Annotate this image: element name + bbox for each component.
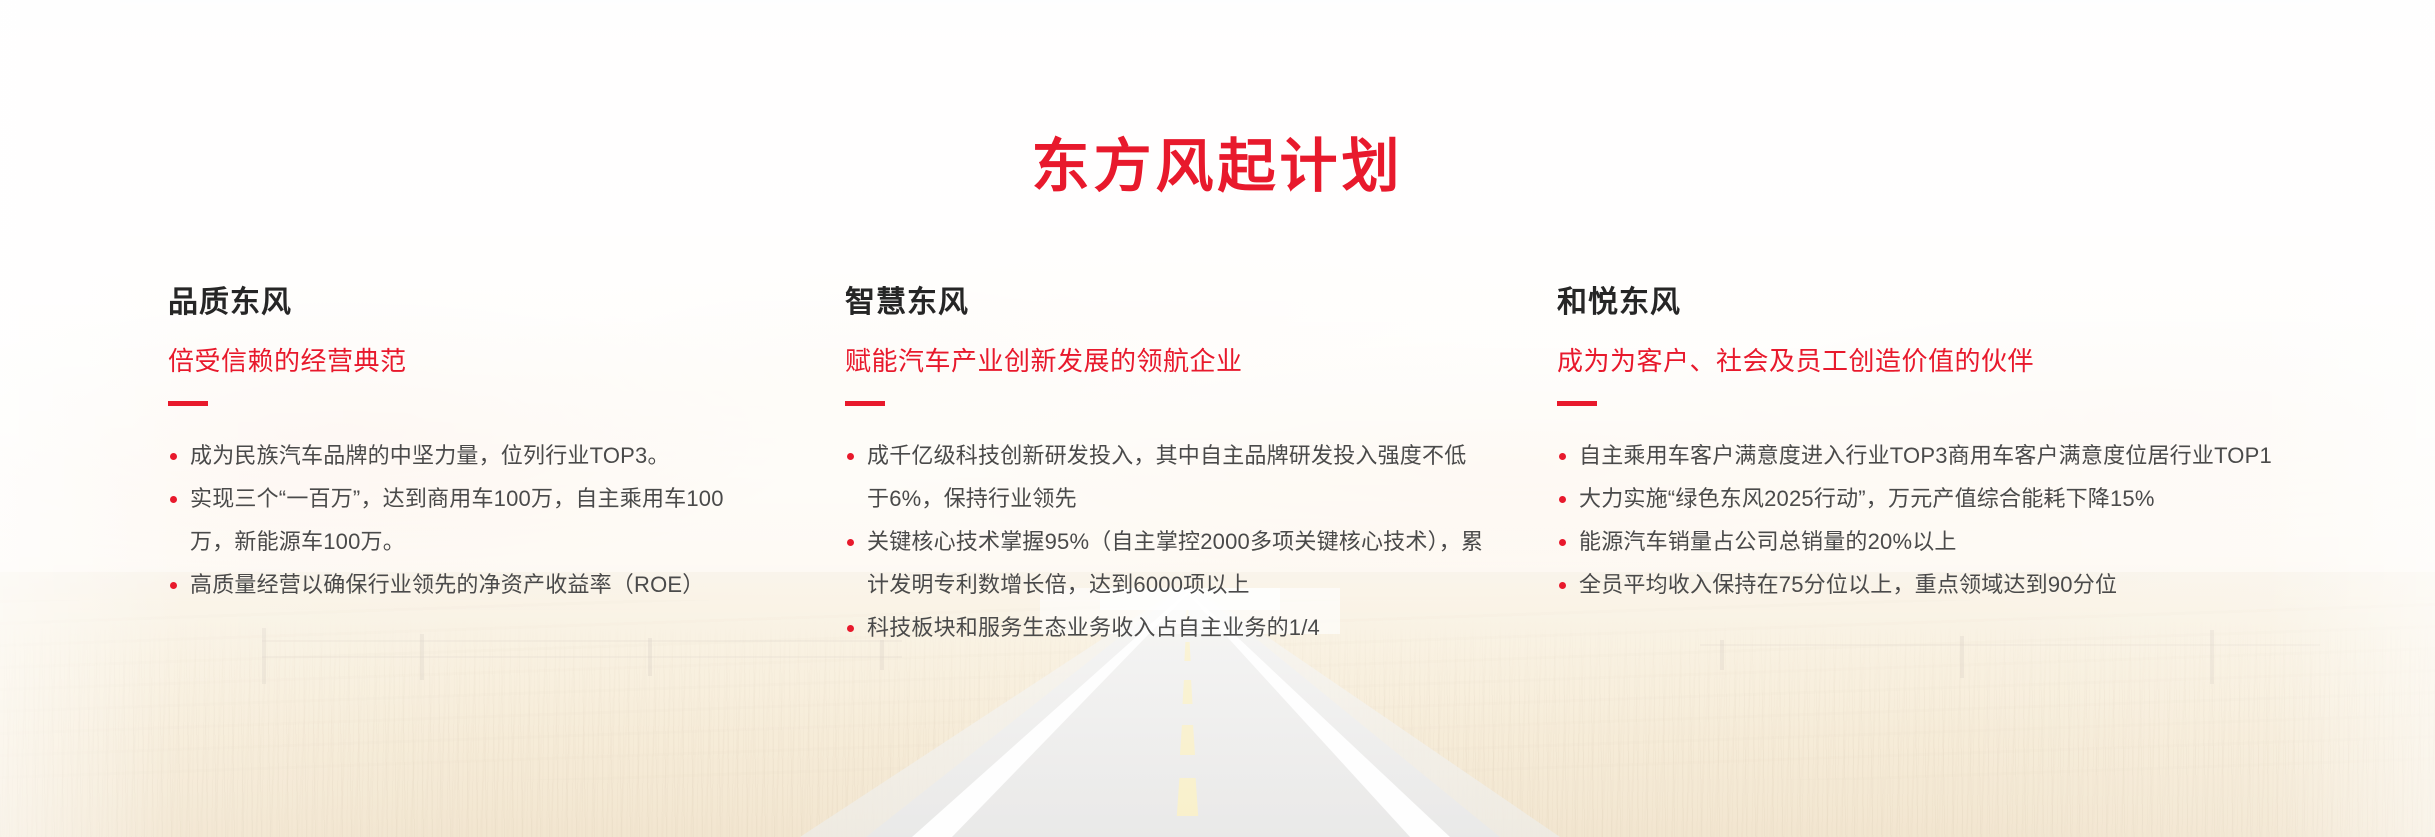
list-item: 成千亿级科技创新研发投入，其中自主品牌研发投入强度不低于6%，保持行业领先 bbox=[845, 434, 1485, 520]
column-title: 品质东风 bbox=[168, 285, 788, 321]
bullet-list: 自主乘用车客户满意度进入行业TOP3商用车客户满意度位居行业TOP1 大力实施“… bbox=[1557, 434, 2317, 606]
column-title: 和悦东风 bbox=[1557, 285, 2317, 321]
list-item: 关键核心技术掌握95%（自主掌控2000多项关键核心技术），累计发明专利数增长倍… bbox=[845, 520, 1485, 606]
column-title: 智慧东风 bbox=[845, 285, 1505, 321]
column-subtitle: 倍受信赖的经营典范 bbox=[168, 345, 788, 379]
list-item: 成为民族汽车品牌的中坚力量，位列行业TOP3。 bbox=[168, 434, 768, 477]
column-subtitle: 赋能汽车产业创新发展的领航企业 bbox=[845, 345, 1505, 379]
list-item: 高质量经营以确保行业领先的净资产收益率（ROE） bbox=[168, 563, 768, 606]
accent-rule bbox=[168, 401, 208, 406]
list-item: 大力实施“绿色东风2025行动”，万元产值综合能耗下降15% bbox=[1557, 477, 2307, 520]
page-title: 东方风起计划 bbox=[0, 135, 2435, 199]
accent-rule bbox=[1557, 401, 1597, 406]
column-subtitle: 成为为客户、社会及员工创造价值的伙伴 bbox=[1557, 345, 2317, 379]
list-item: 实现三个“一百万”，达到商用车100万，自主乘用车100万，新能源车100万。 bbox=[168, 477, 768, 563]
column-intelligence: 智慧东风 赋能汽车产业创新发展的领航企业 成千亿级科技创新研发投入，其中自主品牌… bbox=[845, 285, 1505, 649]
slide-root: 东方风起计划 品质东风 倍受信赖的经营典范 成为民族汽车品牌的中坚力量，位列行业… bbox=[0, 0, 2435, 837]
bullet-list: 成千亿级科技创新研发投入，其中自主品牌研发投入强度不低于6%，保持行业领先 关键… bbox=[845, 434, 1505, 649]
column-harmony: 和悦东风 成为为客户、社会及员工创造价值的伙伴 自主乘用车客户满意度进入行业TO… bbox=[1557, 285, 2317, 606]
list-item: 自主乘用车客户满意度进入行业TOP3商用车客户满意度位居行业TOP1 bbox=[1557, 434, 2307, 477]
column-quality: 品质东风 倍受信赖的经营典范 成为民族汽车品牌的中坚力量，位列行业TOP3。 实… bbox=[168, 285, 788, 606]
slide-content: 东方风起计划 品质东风 倍受信赖的经营典范 成为民族汽车品牌的中坚力量，位列行业… bbox=[0, 0, 2435, 837]
accent-rule bbox=[845, 401, 885, 406]
list-item: 科技板块和服务生态业务收入占自主业务的1/4 bbox=[845, 606, 1485, 649]
list-item: 能源汽车销量占公司总销量的20%以上 bbox=[1557, 520, 2307, 563]
columns-container: 品质东风 倍受信赖的经营典范 成为民族汽车品牌的中坚力量，位列行业TOP3。 实… bbox=[0, 285, 2435, 705]
bullet-list: 成为民族汽车品牌的中坚力量，位列行业TOP3。 实现三个“一百万”，达到商用车1… bbox=[168, 434, 788, 606]
list-item: 全员平均收入保持在75分位以上，重点领域达到90分位 bbox=[1557, 563, 2307, 606]
